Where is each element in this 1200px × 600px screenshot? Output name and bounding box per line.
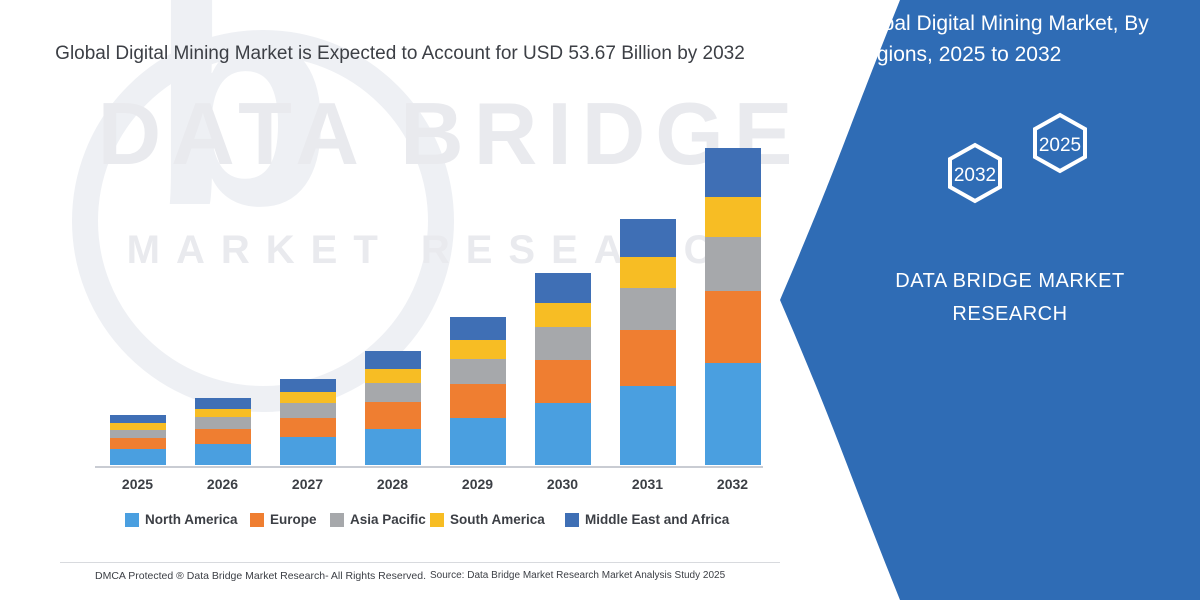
right-panel: Global Digital Mining Market, By Regions… [780,0,1200,600]
legend-item: Asia Pacific [330,512,426,527]
footer-divider [60,562,780,563]
bar-segment [195,417,251,428]
panel-brand-line1: DATA BRIDGE MARKET [830,265,1190,298]
bar-group [450,317,506,465]
x-axis-tick-label: 2029 [450,476,506,492]
bar-segment [365,402,421,428]
bar-segment [195,429,251,444]
bar-segment [110,438,166,449]
legend-item: North America [125,512,238,527]
bar-segment [195,444,251,465]
legend-swatch [330,513,344,527]
bar-segment [365,383,421,402]
bar-segment [620,386,676,465]
legend-item: Middle East and Africa [565,512,729,527]
legend-label: Europe [270,512,317,527]
legend-label: Asia Pacific [350,512,426,527]
bar-segment [705,291,761,363]
bar-segment [620,330,676,386]
hex-shapes [900,105,1160,215]
legend-item: Europe [250,512,317,527]
bar-segment [620,219,676,257]
chart-legend: North AmericaEuropeAsia PacificSouth Ame… [95,512,775,532]
bar-segment [535,273,591,303]
x-axis-tick-label: 2031 [620,476,676,492]
x-axis-line [95,466,763,468]
page-title: Global Digital Mining Market is Expected… [40,38,760,70]
bar-segment [535,403,591,465]
x-axis-tick-label: 2028 [365,476,421,492]
legend-swatch [565,513,579,527]
bar-segment [110,449,166,465]
x-axis-tick-label: 2025 [110,476,166,492]
bar-segment [110,430,166,438]
bar-segment [705,148,761,197]
legend-label: Middle East and Africa [585,512,729,527]
bar-group [195,398,251,465]
legend-swatch [125,513,139,527]
bar-segment [450,317,506,340]
bar-segment [195,409,251,417]
panel-brand: DATA BRIDGE MARKET RESEARCH [830,265,1190,331]
bar-segment [450,340,506,359]
bar-group [535,273,591,465]
bar-segment [705,237,761,291]
bar-segment [280,379,336,392]
bar-segment [620,257,676,288]
hex-badges: 2032 2025 [900,105,1160,215]
bar-group [705,148,761,465]
bar-segment [450,359,506,384]
x-axis-tick-label: 2030 [535,476,591,492]
bar-segment [365,369,421,383]
bar-segment [195,398,251,408]
bar-segment [280,437,336,465]
bar-segment [450,418,506,465]
x-axis-labels: 20252026202720282029203020312032 [95,476,775,500]
bar-segment [280,392,336,403]
hex-label-2025: 2025 [930,135,1190,157]
x-axis-tick-label: 2032 [705,476,761,492]
footer-source: Source: Data Bridge Market Research Mark… [430,570,725,581]
legend-swatch [430,513,444,527]
bar-segment [365,429,421,465]
legend-label: South America [450,512,545,527]
bar-segment [705,197,761,237]
bar-group [620,219,676,465]
bar-segment [535,360,591,404]
bar-segment [365,351,421,369]
bar-segment [450,384,506,418]
x-axis-tick-label: 2026 [195,476,251,492]
bar-segment [620,288,676,330]
legend-swatch [250,513,264,527]
hex-label-2032: 2032 [845,165,1105,187]
bar-chart-plot [95,140,775,465]
bar-segment [535,327,591,360]
bar-segment [705,363,761,465]
x-axis-tick-label: 2027 [280,476,336,492]
bar-segment [280,403,336,418]
bar-segment [110,415,166,423]
bar-segment [535,303,591,327]
panel-title: Global Digital Mining Market, By Regions… [850,8,1180,70]
legend-label: North America [145,512,238,527]
bar-group [110,415,166,465]
bar-group [280,379,336,465]
footer-copyright: DMCA Protected ® Data Bridge Market Rese… [95,570,426,582]
panel-brand-line2: RESEARCH [830,298,1190,331]
bar-segment [280,418,336,438]
legend-item: South America [430,512,545,527]
bar-group [365,351,421,465]
